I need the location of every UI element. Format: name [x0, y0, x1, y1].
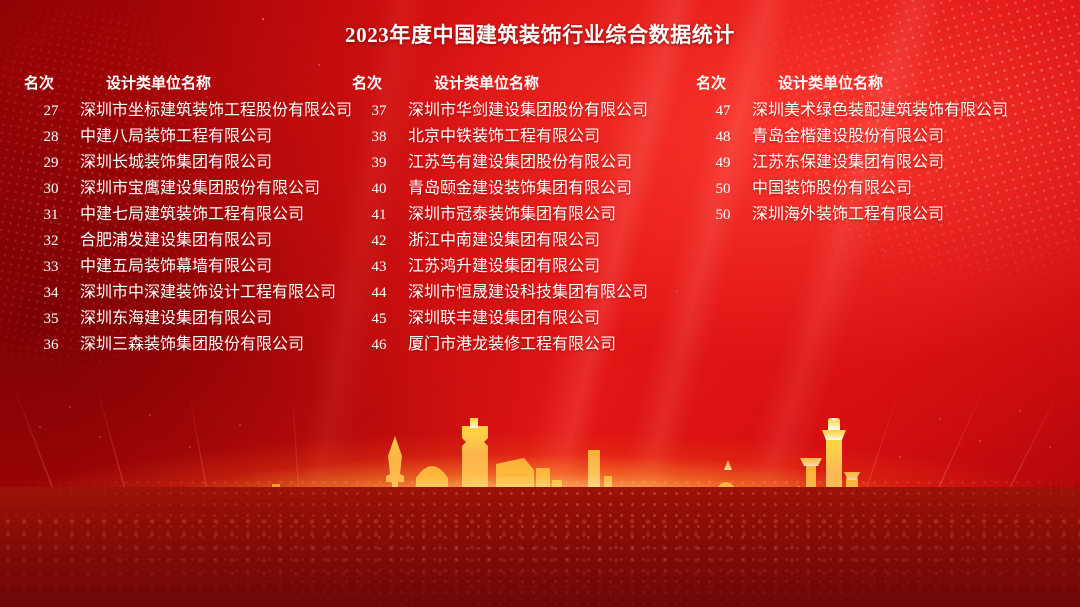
row-rank: 38 [350, 129, 408, 146]
table-row[interactable]: 37 深圳市华剑建设集团股份有限公司 [350, 96, 648, 122]
halftone-dots-bottom-decoration [0, 477, 1080, 607]
row-name: 青岛金楷建设股份有限公司 [752, 122, 944, 146]
ground-dot-pattern-decoration [0, 515, 1080, 607]
ranking-table: 名次 设计类单位名称 27 深圳市坐标建筑装饰工程股份有限公司 28 中建八局装… [0, 72, 1080, 352]
header-rank: 名次 [350, 72, 410, 93]
table-row[interactable]: 32 合肥浦发建设集团有限公司 [22, 226, 352, 252]
row-rank: 36 [22, 337, 80, 354]
horizon-glow-decoration [0, 343, 1080, 573]
row-name: 合肥浦发建设集团有限公司 [80, 226, 272, 250]
row-name: 深圳市坐标建筑装饰工程股份有限公司 [80, 96, 352, 120]
row-rank: 48 [694, 129, 752, 146]
header-name: 设计类单位名称 [754, 72, 883, 93]
row-rank: 35 [22, 311, 80, 328]
table-row[interactable]: 47 深圳美术绿色装配建筑装饰有限公司 [694, 96, 1008, 122]
row-name: 深圳东海建设集团有限公司 [80, 304, 272, 328]
light-beams-decoration [0, 367, 1080, 507]
column-header-row: 名次 设计类单位名称 [350, 72, 648, 96]
row-name: 江苏笃有建设集团股份有限公司 [408, 148, 632, 172]
table-row[interactable]: 34 深圳市中深建装饰设计工程有限公司 [22, 278, 352, 304]
row-rank: 33 [22, 259, 80, 276]
row-name: 江苏鸿升建设集团有限公司 [408, 252, 600, 276]
table-row[interactable]: 48 青岛金楷建设股份有限公司 [694, 122, 1008, 148]
row-name: 中建八局装饰工程有限公司 [80, 122, 272, 146]
row-name: 厦门市港龙装修工程有限公司 [408, 330, 616, 354]
table-row[interactable]: 42 浙江中南建设集团有限公司 [350, 226, 648, 252]
row-rank: 37 [350, 103, 408, 120]
row-name: 中建五局装饰幕墙有限公司 [80, 252, 272, 276]
table-row[interactable]: 31 中建七局建筑装饰工程有限公司 [22, 200, 352, 226]
table-row[interactable]: 45 深圳联丰建设集团有限公司 [350, 304, 648, 330]
city-skyline-silhouette [0, 418, 1080, 553]
slide-canvas: 2023年度中国建筑装饰行业综合数据统计 名次 设计类单位名称 27 深圳市坐标… [0, 0, 1080, 607]
table-row[interactable]: 33 中建五局装饰幕墙有限公司 [22, 252, 352, 278]
header-name: 设计类单位名称 [82, 72, 211, 93]
row-rank: 27 [22, 103, 80, 120]
header-rank: 名次 [22, 72, 82, 93]
row-name: 深圳市宝鹰建设集团股份有限公司 [80, 174, 320, 198]
row-name: 青岛颐金建设装饰集团有限公司 [408, 174, 632, 198]
column-header-row: 名次 设计类单位名称 [694, 72, 1008, 96]
row-rank: 40 [350, 181, 408, 198]
ranking-column-1: 名次 设计类单位名称 27 深圳市坐标建筑装饰工程股份有限公司 28 中建八局装… [22, 72, 352, 356]
table-row[interactable]: 50 深圳海外装饰工程有限公司 [694, 200, 1008, 226]
table-row[interactable]: 50 中国装饰股份有限公司 [694, 174, 1008, 200]
row-rank: 34 [22, 285, 80, 302]
row-rank: 45 [350, 311, 408, 328]
city-scene-decoration [0, 367, 1080, 607]
row-name: 深圳市冠泰装饰集团有限公司 [408, 200, 616, 224]
header-name: 设计类单位名称 [410, 72, 539, 93]
row-rank: 50 [694, 207, 752, 224]
table-row[interactable]: 36 深圳三森装饰集团股份有限公司 [22, 330, 352, 356]
table-row[interactable]: 46 厦门市港龙装修工程有限公司 [350, 330, 648, 356]
row-rank: 32 [22, 233, 80, 250]
row-rank: 41 [350, 207, 408, 224]
row-rank: 50 [694, 181, 752, 198]
row-name: 中建七局建筑装饰工程有限公司 [80, 200, 304, 224]
ranking-column-2: 名次 设计类单位名称 37 深圳市华剑建设集团股份有限公司 38 北京中铁装饰工… [350, 72, 648, 356]
row-rank: 39 [350, 155, 408, 172]
table-row[interactable]: 38 北京中铁装饰工程有限公司 [350, 122, 648, 148]
row-rank: 46 [350, 337, 408, 354]
row-name: 深圳三森装饰集团股份有限公司 [80, 330, 304, 354]
row-rank: 30 [22, 181, 80, 198]
row-name: 深圳市恒晟建设科技集团有限公司 [408, 278, 648, 302]
table-row[interactable]: 40 青岛颐金建设装饰集团有限公司 [350, 174, 648, 200]
foreground-ground-decoration [0, 487, 1080, 607]
row-name: 深圳海外装饰工程有限公司 [752, 200, 944, 224]
row-name: 中国装饰股份有限公司 [752, 174, 912, 198]
table-row[interactable]: 43 江苏鸿升建设集团有限公司 [350, 252, 648, 278]
ranking-column-3: 名次 设计类单位名称 47 深圳美术绿色装配建筑装饰有限公司 48 青岛金楷建设… [694, 72, 1008, 226]
table-row[interactable]: 27 深圳市坐标建筑装饰工程股份有限公司 [22, 96, 352, 122]
row-name: 深圳美术绿色装配建筑装饰有限公司 [752, 96, 1008, 120]
row-rank: 31 [22, 207, 80, 224]
row-rank: 43 [350, 259, 408, 276]
row-name: 深圳联丰建设集团有限公司 [408, 304, 600, 328]
table-row[interactable]: 35 深圳东海建设集团有限公司 [22, 304, 352, 330]
row-name: 深圳市中深建装饰设计工程有限公司 [80, 278, 336, 302]
row-name: 北京中铁装饰工程有限公司 [408, 122, 600, 146]
row-rank: 47 [694, 103, 752, 120]
table-row[interactable]: 30 深圳市宝鹰建设集团股份有限公司 [22, 174, 352, 200]
row-rank: 42 [350, 233, 408, 250]
row-rank: 29 [22, 155, 80, 172]
page-title: 2023年度中国建筑装饰行业综合数据统计 [0, 19, 1080, 49]
row-name: 浙江中南建设集团有限公司 [408, 226, 600, 250]
row-rank: 49 [694, 155, 752, 172]
table-row[interactable]: 41 深圳市冠泰装饰集团有限公司 [350, 200, 648, 226]
table-row[interactable]: 29 深圳长城装饰集团有限公司 [22, 148, 352, 174]
column-header-row: 名次 设计类单位名称 [22, 72, 352, 96]
row-rank: 28 [22, 129, 80, 146]
row-rank: 44 [350, 285, 408, 302]
row-name: 深圳长城装饰集团有限公司 [80, 148, 272, 172]
table-row[interactable]: 44 深圳市恒晟建设科技集团有限公司 [350, 278, 648, 304]
table-row[interactable]: 28 中建八局装饰工程有限公司 [22, 122, 352, 148]
table-row[interactable]: 49 江苏东保建设集团有限公司 [694, 148, 1008, 174]
table-row[interactable]: 39 江苏笃有建设集团股份有限公司 [350, 148, 648, 174]
row-name: 江苏东保建设集团有限公司 [752, 148, 944, 172]
header-rank: 名次 [694, 72, 754, 93]
row-name: 深圳市华剑建设集团股份有限公司 [408, 96, 648, 120]
